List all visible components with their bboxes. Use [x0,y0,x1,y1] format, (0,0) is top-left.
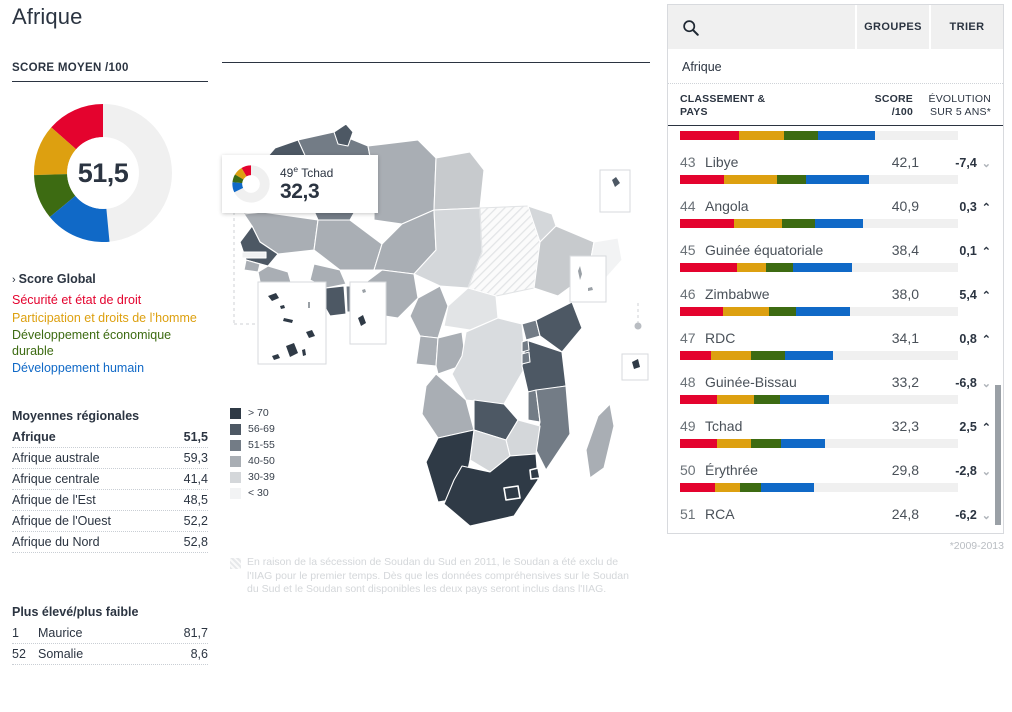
legend-swatch [230,408,241,419]
score-bar-segment [777,175,805,184]
country-row-main: 45Guinée équatoriale38,40,1⌃ [680,242,991,258]
arrow-up-icon: ⌃ [982,334,991,346]
score-bar-segment [680,483,715,492]
arrow-up-icon: ⌃ [982,422,991,434]
arrow-down-icon: ⌄ [982,158,991,170]
extreme-rank: 52 [12,647,38,661]
arrow-up-icon: ⌃ [982,246,991,258]
regional-row: Afrique de l'Ouest52,2 [12,511,208,532]
tooltip-donut-icon [232,165,270,203]
country-rank: 47 [680,330,705,346]
country-evolution-value: -2,8 [955,464,977,478]
country-name: Érythrée [705,462,863,478]
score-bar-segment [784,131,818,140]
country-evolution-value: 0,8 [959,332,976,346]
legend-swatch [230,472,241,483]
country-score: 34,1 [863,330,919,346]
country-row[interactable]: 45Guinée équatoriale38,40,1⌃ [668,238,1003,272]
country-row[interactable]: 50Érythrée29,8-2,8⌄ [668,458,1003,492]
country-score: 29,8 [863,462,919,478]
country-rank: 48 [680,374,705,390]
legend-item: 30-39 [230,471,275,483]
country-row-main: 43Libye42,1-7,4⌄ [680,154,991,170]
map-footnote-text: En raison de la sécession de Soudan du S… [247,556,630,597]
regional-name: Afrique australe [12,451,100,465]
legend-label: < 30 [248,487,269,499]
country-score: 24,8 [863,506,919,522]
country-evolution-value: 0,1 [959,244,976,258]
search-input[interactable] [707,19,849,36]
score-bar-segment [717,439,751,448]
score-bar-segment [737,263,766,272]
score-bar-segment [680,131,739,140]
regional-value: 52,2 [184,514,208,528]
header-country-line2: PAYS [680,106,855,119]
tooltip-country-name: Tchad [301,166,333,180]
legend-item: 51-55 [230,439,275,451]
category-item-participation[interactable]: Participation et droits de l’homme [12,311,208,327]
header-score-line2: /100 [855,106,913,119]
score-bar-segment [769,307,795,316]
header-country-line1: CLASSEMENT & [680,93,855,106]
search-icon [682,19,699,36]
panel-toolbar: GROUPES TRIER [668,5,1003,50]
country-score-bar [680,439,958,448]
regional-value: 51,5 [184,430,208,444]
donut-center-value: 51,5 [34,104,172,242]
regional-name: Afrique [12,430,56,444]
arrow-down-icon: ⌄ [982,510,991,522]
country-rank: 46 [680,286,705,302]
score-bar-segment [751,351,785,360]
country-score: 42,1 [863,154,919,170]
country-rank: 43 [680,154,705,170]
country-evolution: -7,4⌄ [919,156,991,170]
dashboard-page: Afrique SCORE MOYEN /100 51,5 ›Score Glo… [0,0,1012,712]
map-footnote: En raison de la sécession de Soudan du S… [230,556,630,597]
regional-value: 48,5 [184,493,208,507]
score-bar-segment [751,439,781,448]
extreme-value: 8,6 [191,647,208,661]
score-bar-segment [785,351,832,360]
country-row[interactable]: 43Libye42,1-7,4⌄ [668,150,1003,184]
country-evolution-value: -6,8 [955,376,977,390]
legend-item: > 70 [230,407,275,419]
score-bar-segment [723,307,770,316]
score-bar-segment [680,175,724,184]
arrow-up-icon: ⌃ [982,290,991,302]
country-name: Guinée-Bissau [705,374,863,390]
score-bar-segment [680,351,711,360]
score-bar-segment [680,395,717,404]
country-list[interactable]: 42Guinée43,50,5⌃43Libye42,1-7,4⌄44Angola… [668,126,1003,524]
country-evolution: 2,5⌃ [919,420,991,434]
country-name: Zimbabwe [705,286,863,302]
page-title: Afrique [12,4,82,30]
extreme-row: 52Somalie8,6 [12,644,208,665]
regional-value: 59,3 [184,451,208,465]
country-score-bar [680,307,958,316]
country-evolution: -6,2⌄ [919,508,991,522]
chevron-right-icon: › [12,274,16,286]
score-bar-segment [796,307,851,316]
legend-label: > 70 [248,407,269,419]
ranking-panel: GROUPES TRIER Afrique CLASSEMENT & PAYS … [667,4,1004,534]
country-evolution: 0,8⌃ [919,332,991,346]
regional-averages-list: Afrique51,5Afrique australe59,3Afrique c… [12,427,208,553]
score-bar-segment [782,219,815,228]
score-bar-segment [740,483,761,492]
score-bar-segment [680,263,737,272]
legend-item: 40-50 [230,455,275,467]
table-header: CLASSEMENT & PAYS SCORE /100 ÉVOLUTION S… [668,84,1003,126]
score-bar-segment [806,175,869,184]
country-score-bar [680,395,958,404]
score-bar-segment [680,307,723,316]
score-bar-segment [715,483,740,492]
country-row-main: 50Érythrée29,8-2,8⌄ [680,462,991,478]
regional-value: 52,8 [184,535,208,549]
regional-row: Afrique centrale41,4 [12,469,208,490]
legend-swatch [230,488,241,499]
country-rank: 50 [680,462,705,478]
country-row[interactable]: 47RDC34,10,8⌃ [668,326,1003,360]
regional-row: Afrique de l'Est48,5 [12,490,208,511]
groups-button[interactable]: GROUPES [855,5,929,49]
header-score: SCORE /100 [855,93,913,118]
category-item-human[interactable]: Développement humain [12,361,208,377]
country-evolution-value: -6,2 [955,508,977,522]
arrow-down-icon: ⌄ [982,378,991,390]
score-bar-segment [766,263,793,272]
country-score: 33,2 [863,374,919,390]
country-row-main: 48Guinée-Bissau33,2-6,8⌄ [680,374,991,390]
category-item-economy[interactable]: Développement économique durable [12,328,208,359]
panel-scrollbar[interactable] [995,157,1001,531]
regional-averages-title: Moyennes régionales [12,409,208,423]
regional-name: Afrique de l'Ouest [12,514,111,528]
country-score-bar [680,175,958,184]
header-country: CLASSEMENT & PAYS [680,93,855,118]
extremes-list: 1Maurice81,752Somalie8,6 [12,623,208,665]
hatch-swatch-icon [230,558,241,569]
average-score-donut: 51,5 [12,104,208,244]
country-score: 38,4 [863,242,919,258]
score-global-toggle[interactable]: ›Score Global [12,272,208,286]
tooltip-country: 49e Tchad [280,165,333,180]
regional-name: Afrique du Nord [12,535,100,549]
divider [222,62,650,63]
extreme-value: 81,7 [184,626,208,640]
map-panel: > 70 56-69 51-55 40-50 30-39 < 30 En rai… [222,62,650,602]
africa-choropleth-map[interactable] [222,74,650,544]
score-bar-segment [680,219,734,228]
country-score-bar [680,483,958,492]
score-bar-segment [780,395,829,404]
legend-label: 56-69 [248,423,275,435]
score-bar-segment [739,131,784,140]
country-row[interactable]: 42Guinée43,50,5⌃ [668,126,1003,140]
country-name: Libye [705,154,863,170]
left-sidebar: SCORE MOYEN /100 51,5 ›Score Global Sécu… [12,62,208,665]
country-rank: 45 [680,242,705,258]
score-bar-segment [781,439,824,448]
country-row-main: 44Angola40,90,3⌃ [680,198,991,214]
country-evolution: 5,4⌃ [919,288,991,302]
country-row-main: 46Zimbabwe38,05,4⌃ [680,286,991,302]
arrow-down-icon: ⌄ [982,466,991,478]
legend-swatch [230,456,241,467]
country-row-main: 49Tchad32,32,5⌃ [680,418,991,434]
arrow-up-icon: ⌃ [982,202,991,214]
country-evolution: -6,8⌄ [919,376,991,390]
country-row[interactable]: 46Zimbabwe38,05,4⌃ [668,282,1003,316]
country-name: RDC [705,330,863,346]
legend-swatch [230,440,241,451]
country-evolution-value: 2,5 [959,420,976,434]
extremes-title: Plus élevé/plus faible [12,605,208,619]
country-row-main: 51RCA24,8-6,2⌄ [680,506,991,522]
header-evo-line2: SUR 5 ANS* [913,106,991,119]
country-name: RCA [705,506,863,522]
header-evolution: ÉVOLUTION SUR 5 ANS* [913,93,991,118]
sort-button[interactable]: TRIER [929,5,1003,49]
score-moyen-label: SCORE MOYEN /100 [12,62,208,74]
panel-footnote: *2009-2013 [667,540,1004,552]
country-row[interactable]: 49Tchad32,32,5⌃ [668,414,1003,448]
country-score: 40,9 [863,198,919,214]
legend-label: 30-39 [248,471,275,483]
score-bar-segment [818,131,875,140]
country-row[interactable]: 44Angola40,90,3⌃ [668,194,1003,228]
score-bar-segment [717,395,753,404]
score-bar-segment [793,263,852,272]
score-bar-segment [754,395,780,404]
regional-row: Afrique51,5 [12,427,208,448]
country-evolution-value: 0,3 [959,200,976,214]
extreme-row: 1Maurice81,7 [12,623,208,644]
score-bar-segment [815,219,864,228]
country-evolution: 0,3⌃ [919,200,991,214]
legend-item: < 30 [230,487,275,499]
country-rank: 51 [680,506,705,522]
score-bar-segment [680,439,717,448]
score-bar-segment [761,483,813,492]
legend-label: 51-55 [248,439,275,451]
divider [12,81,208,82]
country-name: Angola [705,198,863,214]
country-rank: 49 [680,418,705,434]
tooltip-rank: 49 [280,166,293,180]
legend-item: 56-69 [230,423,275,435]
category-legend-list: Sécurité et état de droit Participation … [12,293,208,377]
country-score-bar [680,131,958,140]
country-rank: 44 [680,198,705,214]
country-name: Tchad [705,418,863,434]
country-row-main: 47RDC34,10,8⌃ [680,330,991,346]
country-evolution: 0,1⌃ [919,244,991,258]
tooltip-value: 32,3 [280,180,333,204]
extreme-rank: 1 [12,626,38,640]
selected-group-label[interactable]: Afrique [668,50,1003,84]
country-score: 38,0 [863,286,919,302]
country-score-bar [680,351,958,360]
map-legend: > 70 56-69 51-55 40-50 30-39 < 30 [230,407,275,503]
country-score-bar [680,263,958,272]
score-bar-segment [711,351,751,360]
country-name: Guinée équatoriale [705,242,863,258]
category-item-security[interactable]: Sécurité et état de droit [12,293,208,309]
country-evolution-value: 5,4 [959,288,976,302]
legend-label: 40-50 [248,455,275,467]
regional-row: Afrique du Nord52,8 [12,532,208,553]
regional-name: Afrique centrale [12,472,100,486]
regional-row: Afrique australe59,3 [12,448,208,469]
extreme-name: Somalie [38,647,191,661]
country-score-bar [680,219,958,228]
legend-swatch [230,424,241,435]
regional-value: 41,4 [184,472,208,486]
tooltip-text: 49e Tchad 32,3 [280,165,333,204]
regional-name: Afrique de l'Est [12,493,96,507]
map-tooltip: 49e Tchad 32,3 [222,155,378,213]
country-row[interactable]: 48Guinée-Bissau33,2-6,8⌄ [668,370,1003,404]
country-row[interactable]: 51RCA24,8-6,2⌄ [668,502,1003,524]
score-bar-segment [724,175,777,184]
score-global-label: Score Global [19,272,96,286]
tooltip-rank-suffix: e [293,164,298,174]
search-field[interactable] [668,5,855,49]
country-evolution: -2,8⌄ [919,464,991,478]
header-score-line1: SCORE [855,93,913,106]
score-bar-segment [734,219,782,228]
extreme-name: Maurice [38,626,184,640]
country-score: 32,3 [863,418,919,434]
scrollbar-thumb[interactable] [995,385,1001,525]
header-evo-line1: ÉVOLUTION [913,93,991,106]
country-evolution-value: -7,4 [955,156,977,170]
